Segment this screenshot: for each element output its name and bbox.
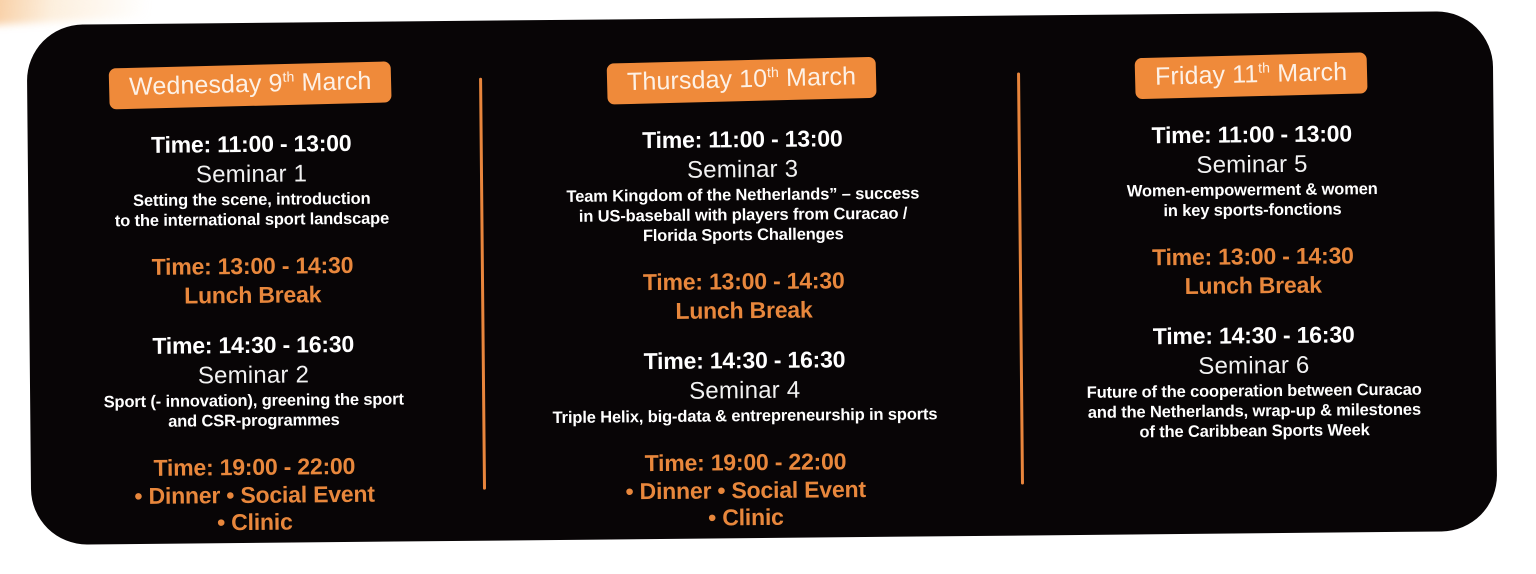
description-line: and CSR-programmes: [36, 409, 471, 433]
badge-ordinal: th: [767, 64, 779, 80]
session-block: Time: 11:00 - 13:00 Seminar 1 Setting th…: [28, 128, 476, 233]
badge-month-text: March: [779, 62, 857, 92]
session-time: Time: 11:00 - 13:00: [1010, 118, 1494, 151]
evening-block: Time: 19:00 - 22:00 • Dinner • Social Ev…: [31, 451, 479, 538]
seminar-title: Seminar 5: [1010, 149, 1494, 182]
break-label: Lunch Break: [1011, 269, 1495, 302]
break-label: Lunch Break: [476, 294, 1011, 327]
badge-day-text: Thursday 10: [627, 65, 768, 97]
description-line: to the international sport landscape: [34, 208, 469, 232]
session-block: Time: 11:00 - 13:00 Seminar 3 Team Kingd…: [475, 123, 1011, 249]
evening-item-line: • Dinner • Social Event: [31, 480, 478, 511]
decorative-corner-wisp: [0, 0, 191, 26]
session-block: Time: 14:30 - 16:30 Seminar 4 Triple Hel…: [477, 344, 1013, 429]
description-line: in key sports-fonctions: [1016, 198, 1488, 223]
session-time: Time: 14:30 - 16:30: [477, 344, 1012, 378]
badge-day-text: Friday 11: [1155, 60, 1259, 91]
evening-item-line: • Clinic: [478, 502, 1013, 534]
seminar-title: Seminar 2: [30, 360, 477, 393]
badge-ordinal: th: [1258, 59, 1270, 75]
session-time: Time: 14:30 - 16:30: [1012, 319, 1496, 352]
description-line: Triple Helix, big-data & entrepreneurshi…: [483, 404, 1006, 429]
seminar-title: Seminar 4: [477, 375, 1012, 408]
badge-month-text: March: [294, 67, 372, 97]
seminar-title: Seminar 6: [1012, 350, 1496, 383]
break-block: Time: 13:00 - 14:30 Lunch Break: [476, 265, 1012, 327]
break-block: Time: 13:00 - 14:30 Lunch Break: [29, 250, 477, 311]
seminar-description: Triple Helix, big-data & entrepreneurshi…: [477, 404, 1012, 429]
day-column-wednesday: Wednesday 9th March Time: 11:00 - 13:00 …: [27, 21, 479, 545]
day-column-thursday: Thursday 10th March Time: 11:00 - 13:00 …: [474, 16, 1014, 541]
schedule-panel: Wednesday 9th March Time: 11:00 - 13:00 …: [27, 11, 1498, 545]
day-badge-thursday: Thursday 10th March: [607, 57, 877, 105]
evening-time: Time: 19:00 - 22:00: [31, 451, 478, 484]
seminar-description: Women-empowerment & women in key sports-…: [1010, 178, 1494, 223]
schedule-poster: Wednesday 9th March Time: 11:00 - 13:00 …: [0, 0, 1536, 574]
break-label: Lunch Break: [29, 279, 476, 311]
break-time: Time: 13:00 - 14:30: [29, 250, 476, 283]
session-block: Time: 14:30 - 16:30 Seminar 2 Sport (- i…: [29, 329, 477, 434]
session-time: Time: 11:00 - 13:00: [28, 128, 475, 161]
evening-items: • Dinner • Social Event • Clinic: [31, 480, 479, 539]
session-time: Time: 11:00 - 13:00: [475, 123, 1010, 157]
session-time: Time: 14:30 - 16:30: [29, 329, 476, 362]
seminar-description: Team Kingdom of the Netherlands” – succe…: [475, 183, 1011, 249]
badge-month-text: March: [1270, 58, 1348, 88]
break-block: Time: 13:00 - 14:30 Lunch Break: [1011, 240, 1495, 301]
description-line: of the Caribbean Sports Week: [1019, 419, 1491, 444]
seminar-title: Seminar 1: [28, 158, 475, 191]
day-badge-friday: Friday 11th March: [1135, 52, 1368, 99]
evening-item-line: • Clinic: [31, 507, 478, 538]
seminar-description: Setting the scene, introduction to the i…: [28, 188, 475, 233]
session-block: Time: 14:30 - 16:30 Seminar 6 Future of …: [1012, 319, 1497, 444]
day-column-friday: Friday 11th March Time: 11:00 - 13:00 Se…: [1009, 11, 1498, 536]
seminar-description: Future of the cooperation between Curaca…: [1012, 379, 1496, 444]
seminar-description: Sport (- innovation), greening the sport…: [30, 389, 477, 434]
seminar-title: Seminar 3: [475, 153, 1010, 186]
session-block: Time: 11:00 - 13:00 Seminar 5 Women-empo…: [1010, 118, 1495, 223]
evening-block: Time: 19:00 - 22:00 • Dinner • Social Ev…: [478, 446, 1014, 534]
break-time: Time: 13:00 - 14:30: [1011, 240, 1495, 273]
day-badge-wednesday: Wednesday 9th March: [109, 61, 392, 109]
day-columns: Wednesday 9th March Time: 11:00 - 13:00 …: [27, 11, 1498, 545]
badge-day-text: Wednesday 9: [129, 69, 283, 101]
evening-items: • Dinner • Social Event • Clinic: [478, 475, 1014, 534]
description-line: Florida Sports Challenges: [482, 223, 1005, 248]
